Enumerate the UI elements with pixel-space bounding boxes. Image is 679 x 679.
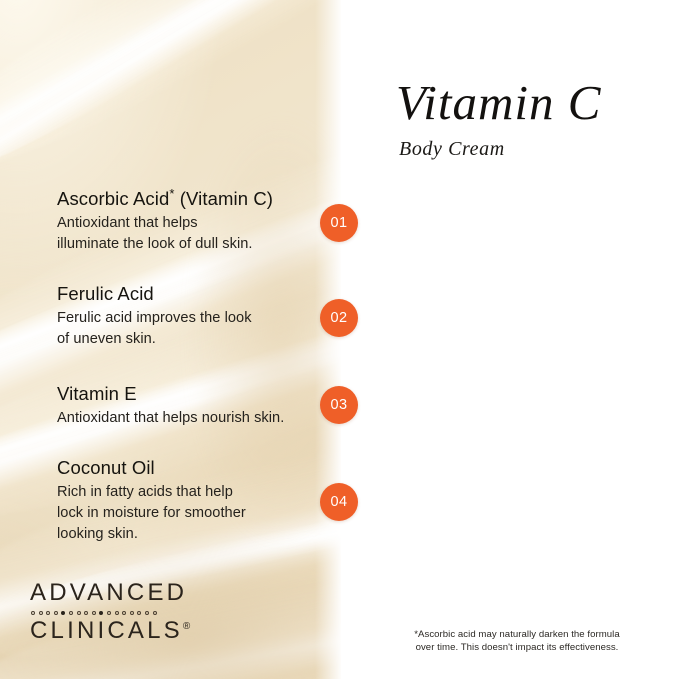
ingredient-name: Vitamin E [57, 383, 329, 405]
ingredient-item: Coconut OilRich in fatty acids that help… [57, 457, 329, 545]
ingredient-description: Rich in fatty acids that help lock in mo… [57, 482, 329, 545]
ingredient-name: Ascorbic Acid* (Vitamin C) [57, 188, 329, 210]
footnote-text: *Ascorbic acid may naturally darken the … [392, 628, 642, 654]
ingredient-list: 01Ascorbic Acid* (Vitamin C)Antioxidant … [0, 0, 679, 679]
ingredient-item: Vitamin EAntioxidant that helps nourish … [57, 383, 329, 429]
ingredient-description: Antioxidant that helps nourish skin. [57, 408, 329, 429]
ingredient-item: Ferulic AcidFerulic acid improves the lo… [57, 283, 329, 350]
ingredient-name: Coconut Oil [57, 457, 329, 479]
ingredient-description: Antioxidant that helps illuminate the lo… [57, 213, 329, 255]
product-infographic: ADVANCED CLINICALS® Vitamin C Body Cream… [0, 0, 679, 679]
ingredient-description: Ferulic acid improves the look of uneven… [57, 308, 329, 350]
ingredient-item: Ascorbic Acid* (Vitamin C)Antioxidant th… [57, 188, 329, 255]
ingredient-name: Ferulic Acid [57, 283, 329, 305]
asterisk-icon: * [169, 186, 174, 201]
